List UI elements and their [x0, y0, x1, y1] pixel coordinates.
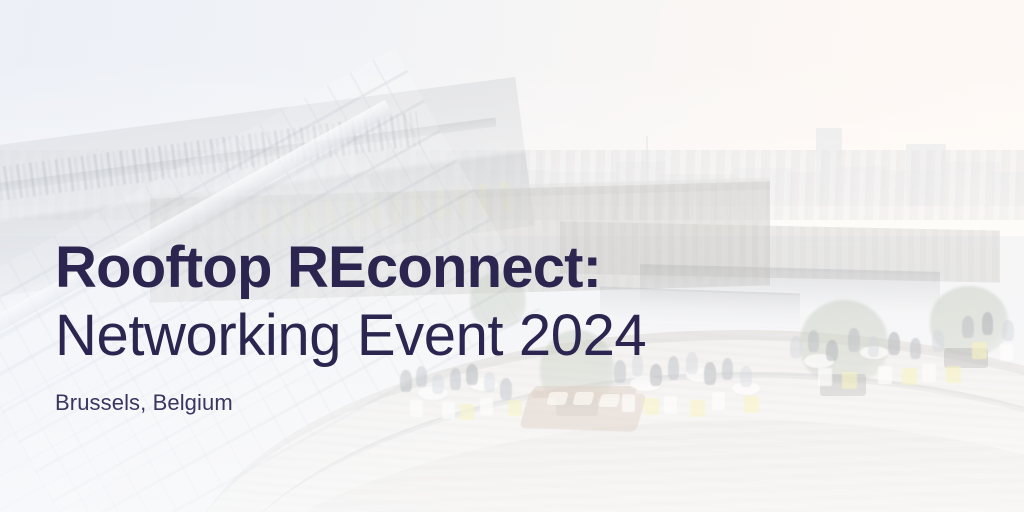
banner-text-block: Rooftop REconnect: Networking Event 2024… [55, 234, 875, 416]
event-title-line-1: Rooftop REconnect: [55, 234, 875, 302]
event-banner: Rooftop REconnect: Networking Event 2024… [0, 0, 1024, 512]
event-location: Brussels, Belgium [55, 390, 875, 416]
event-title-line-2: Networking Event 2024 [55, 302, 875, 370]
